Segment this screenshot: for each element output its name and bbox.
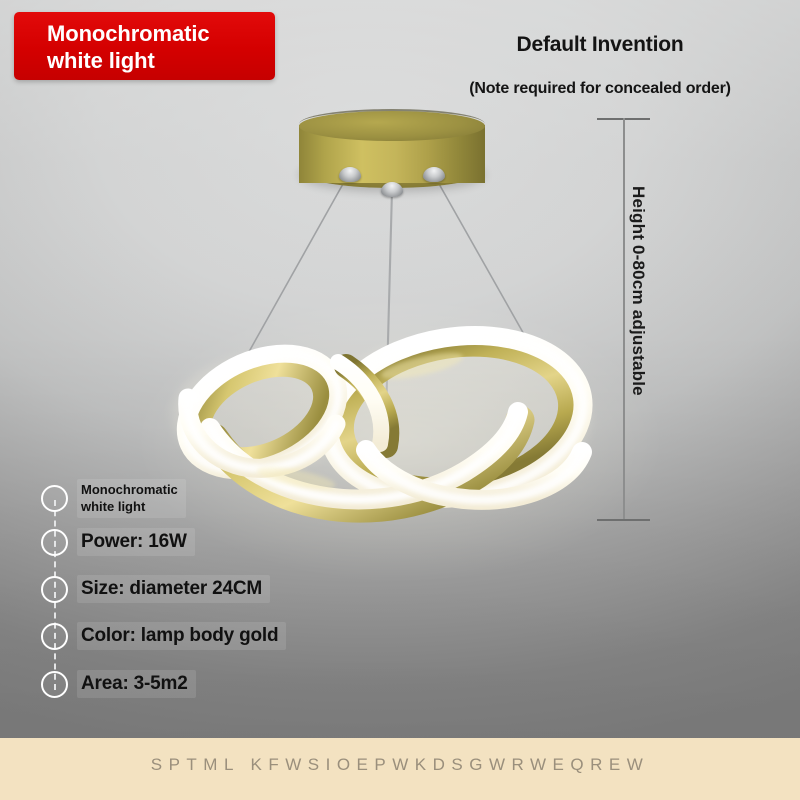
cable-grip-right	[423, 167, 445, 182]
spec-label: Size: diameter 24CM	[77, 575, 270, 603]
spec-item-area: Area: 3-5m2	[41, 670, 196, 698]
led-infinity-fixture	[150, 320, 610, 540]
monochromatic-badge: Monochromatic white light	[14, 12, 275, 80]
product-image-canvas: Monochromatic white light Default Invent…	[0, 0, 800, 800]
footer-bar: SPTML KFWSIOEPWKDSGWRWEQREW	[0, 738, 800, 800]
bullet-dot-icon	[41, 485, 68, 512]
bullet-dot-icon	[41, 671, 68, 698]
spec-label: Power: 16W	[77, 528, 195, 556]
bullet-dot-icon	[41, 529, 68, 556]
spec-label: Color: lamp body gold	[77, 622, 286, 650]
spec-item-light-color: Monochromatic white light	[41, 479, 186, 518]
badge-line-1: Monochromatic	[47, 20, 275, 47]
spec-item-power: Power: 16W	[41, 528, 195, 556]
bullet-dot-icon	[41, 576, 68, 603]
ceiling-canopy	[299, 111, 485, 199]
footer-watermark-text: SPTML KFWSIOEPWKDSGWRWEQREW	[0, 755, 800, 775]
spec-label: Monochromatic white light	[77, 479, 186, 518]
heading-concealed-order-note: (Note required for concealed order)	[400, 80, 800, 98]
spec-item-size: Size: diameter 24CM	[41, 575, 270, 603]
spec-item-color: Color: lamp body gold	[41, 622, 286, 650]
cable-grip-center	[381, 182, 403, 197]
canopy-rim-edge	[299, 109, 485, 139]
cable-grip-left	[339, 167, 361, 182]
badge-line-2: white light	[47, 47, 275, 74]
spec-label: Area: 3-5m2	[77, 670, 196, 698]
bullet-dot-icon	[41, 623, 68, 650]
dimension-line	[623, 118, 625, 521]
dimension-label: Height 0-80cm adjustable	[628, 186, 648, 396]
heading-default-invention: Default Invention	[400, 33, 800, 57]
